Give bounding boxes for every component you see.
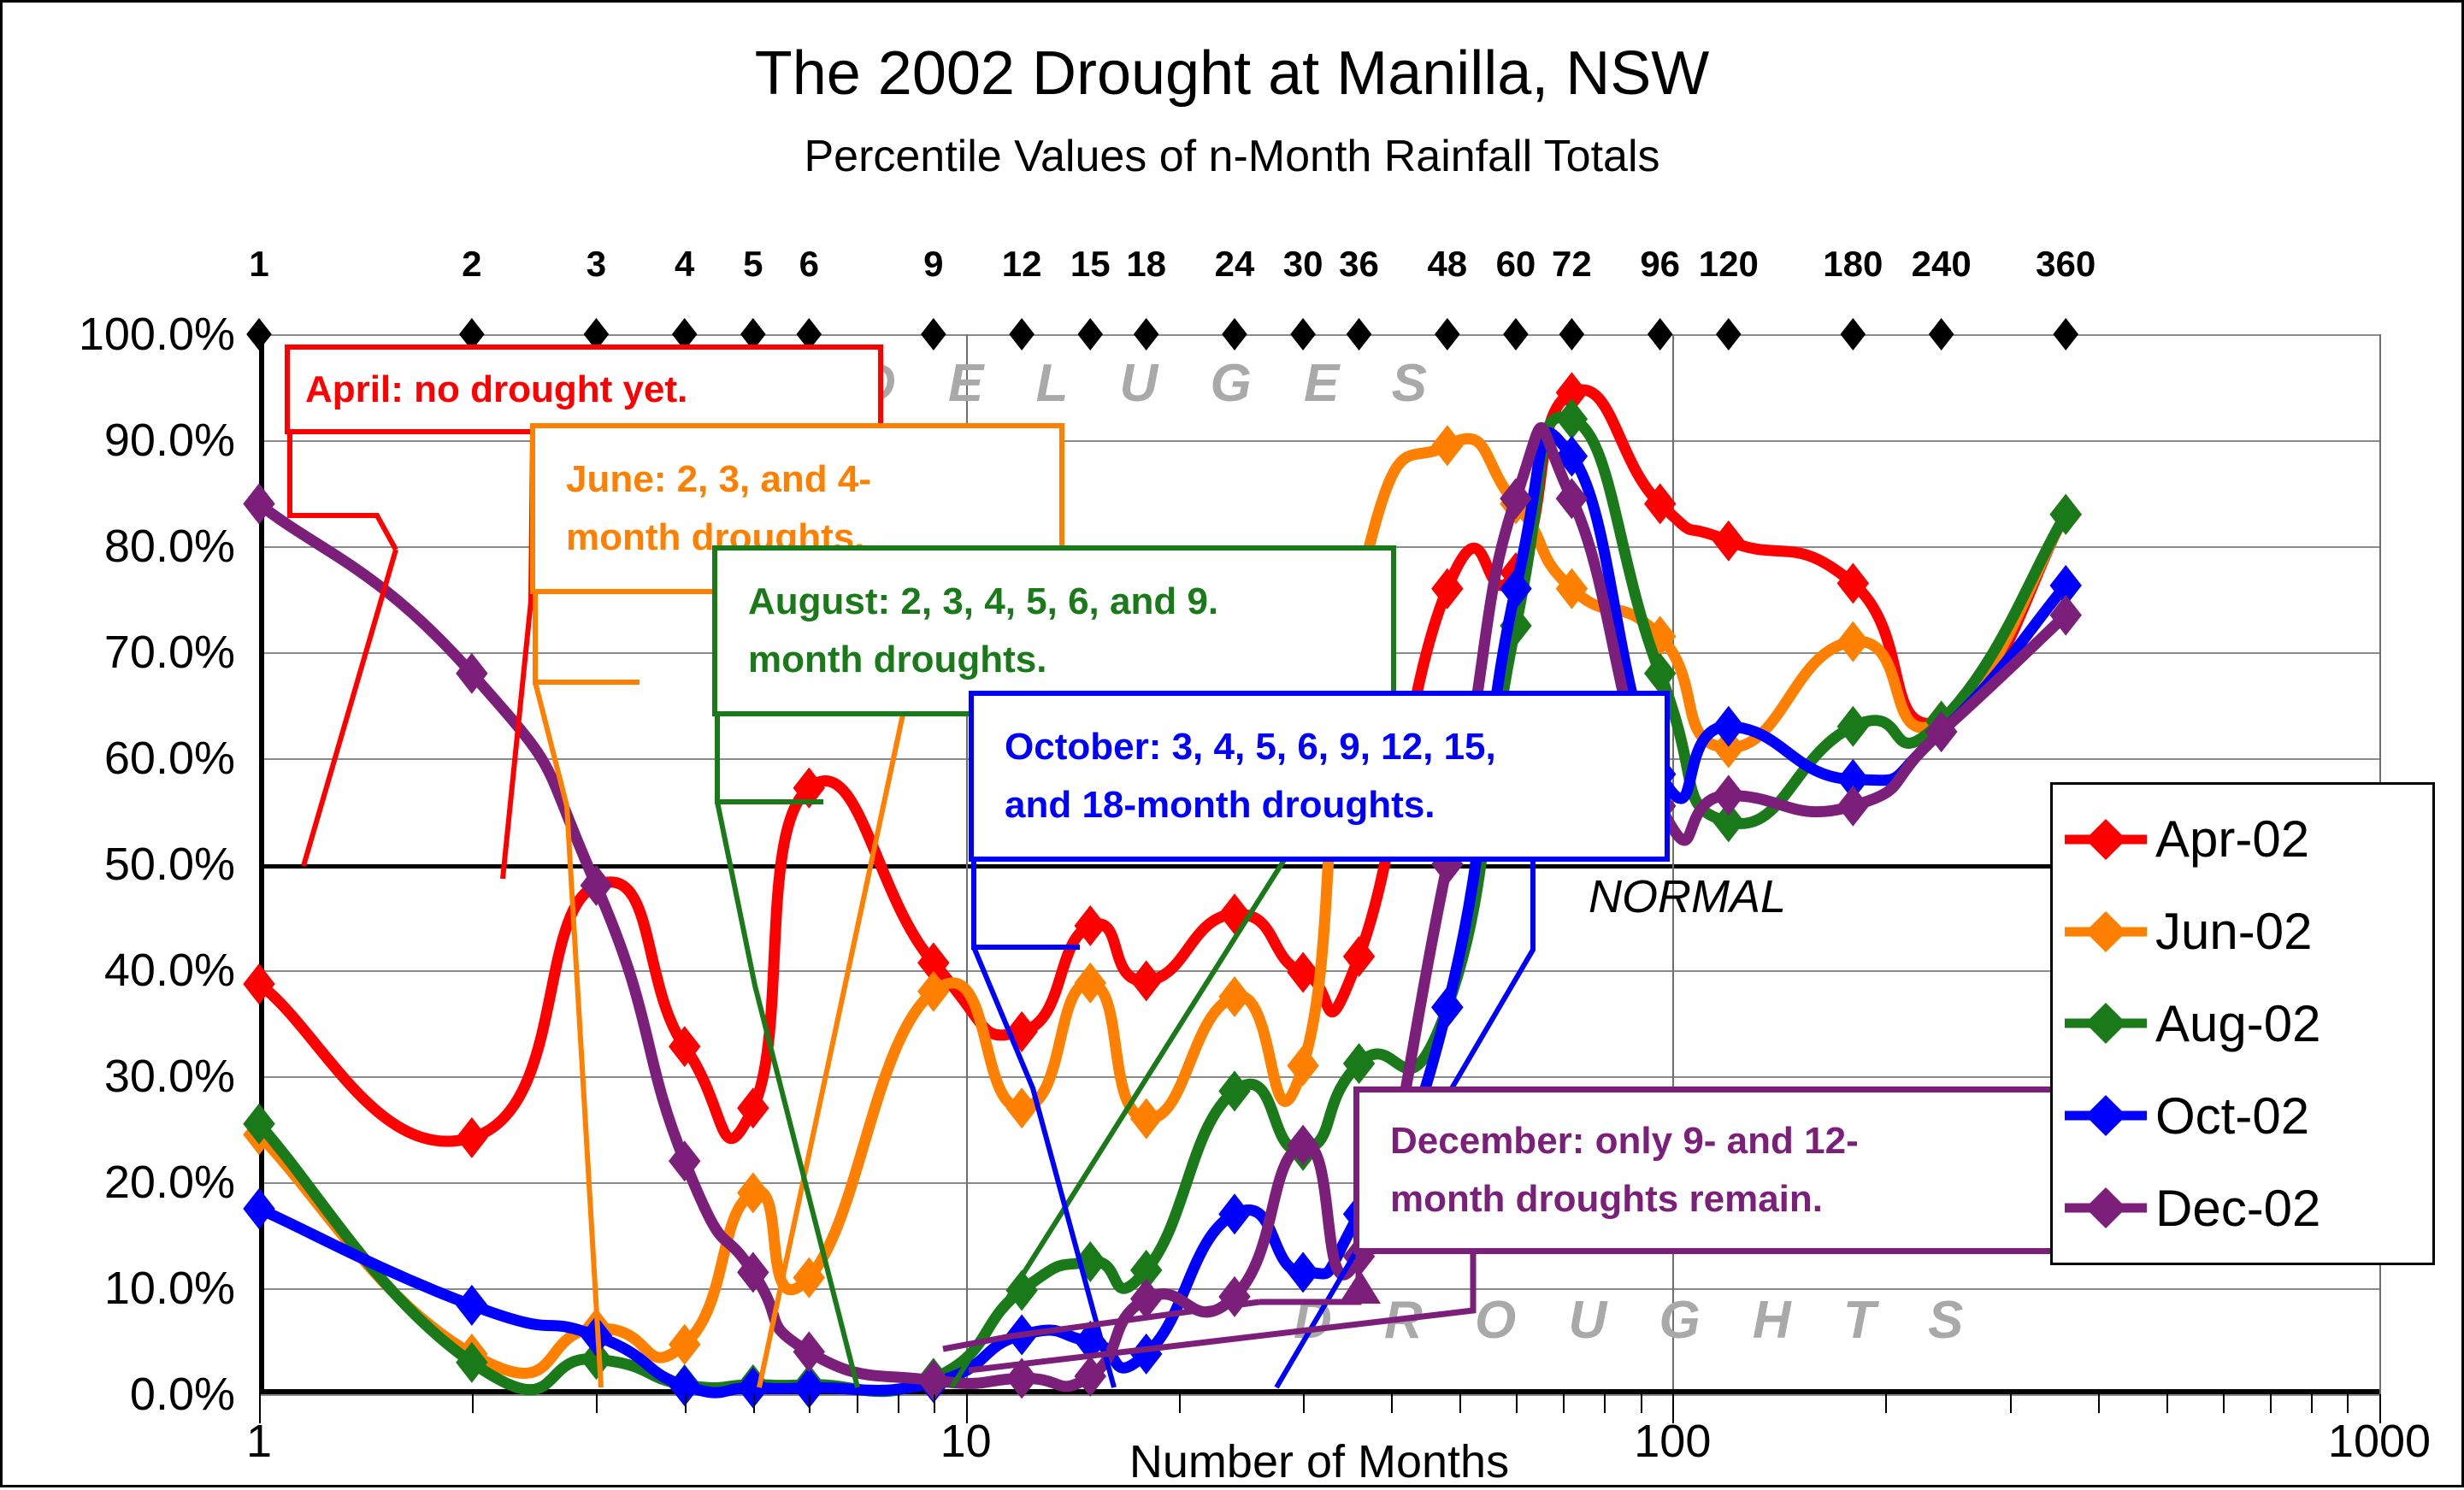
marker-top-100-48 — [1435, 318, 1460, 350]
legend-diamond-icon — [2085, 1187, 2126, 1228]
x-top-tick-360: 360 — [2036, 244, 2096, 285]
legend-item-apr-02[interactable]: Apr-02 — [2065, 798, 2432, 880]
x-minor-tick-50 — [1459, 1394, 1461, 1413]
x-minor-tick-600 — [2223, 1394, 2225, 1413]
y-tick-10: 10.0% — [0, 1262, 235, 1315]
marker-top-100-18 — [1134, 318, 1159, 350]
callout-december-line1: December: only 9- and 12- — [1375, 1112, 1874, 1170]
legend-swatch-oct-02 — [2065, 1098, 2147, 1133]
marker-oct-02-1 — [243, 1188, 274, 1229]
legend-item-dec-02[interactable]: Dec-02 — [2065, 1167, 2432, 1249]
marker-top-100-240 — [1929, 318, 1954, 350]
marker-apr-02-24 — [1218, 893, 1250, 934]
y-tick-70: 70.0% — [0, 626, 235, 679]
y-tick-60: 60.0% — [0, 732, 235, 785]
legend-swatch-apr-02 — [2065, 822, 2147, 857]
x-minor-tick-5 — [753, 1394, 755, 1413]
x-minor-tick-800 — [2311, 1394, 2313, 1413]
marker-dec-02-6 — [793, 1331, 825, 1372]
legend-diamond-icon — [2085, 1095, 2126, 1136]
x-top-tick-2: 2 — [462, 244, 481, 285]
x-top-tick-9: 9 — [923, 244, 943, 285]
callout-december: December: only 9- and 12- month droughts… — [1353, 1087, 2067, 1254]
x-top-tick-180: 180 — [1823, 244, 1883, 285]
normal-line-label: NORMAL — [1589, 870, 1786, 923]
marker-dec-02-180 — [1837, 786, 1869, 827]
y-tick-90: 90.0% — [0, 414, 235, 467]
marker-oct-02-15 — [1075, 1321, 1106, 1362]
legend-item-oct-02[interactable]: Oct-02 — [2065, 1075, 2432, 1157]
x-minor-tick-300 — [2010, 1394, 2012, 1413]
x-minor-tick-30 — [1303, 1394, 1305, 1413]
page-title: The 2002 Drought at Manilla, NSW — [3, 38, 2461, 109]
x-minor-tick-1000 — [2379, 1394, 2381, 1423]
callout-august-line2: month droughts. — [733, 631, 1234, 689]
marker-jun-02-30 — [1287, 1045, 1318, 1087]
x-minor-tick-70 — [1563, 1394, 1565, 1413]
legend-label: Dec-02 — [2155, 1179, 2320, 1238]
x-minor-tick-900 — [2347, 1394, 2349, 1413]
marker-aug-02-180 — [1837, 706, 1869, 747]
marker-aug-02-15 — [1075, 1241, 1106, 1282]
x-minor-tick-80 — [1604, 1394, 1606, 1413]
y-tick-80: 80.0% — [0, 520, 235, 573]
y-tick-100: 100.0% — [0, 308, 235, 361]
x-minor-tick-8 — [898, 1394, 899, 1413]
x-minor-tick-3 — [596, 1394, 598, 1413]
x-minor-tick-90 — [1641, 1394, 1642, 1413]
x-minor-tick-100 — [1672, 1394, 1674, 1423]
y-tick-50: 50.0% — [0, 838, 235, 891]
marker-top-100-360 — [2053, 318, 2078, 350]
x-top-tick-120: 120 — [1699, 244, 1759, 285]
marker-jun-02-48 — [1431, 425, 1463, 466]
marker-top-100-96 — [1648, 318, 1673, 350]
legend-diamond-icon — [2085, 819, 2126, 860]
y-tick-40: 40.0% — [0, 944, 235, 997]
x-minor-tick-4 — [685, 1394, 687, 1413]
x-top-tick-30: 30 — [1283, 244, 1323, 285]
callout-october-line2: and 18-month droughts. — [989, 776, 1512, 834]
legend-item-aug-02[interactable]: Aug-02 — [2065, 982, 2432, 1064]
marker-top-100-180 — [1841, 318, 1866, 350]
callout-august-line1: August: 2, 3, 4, 5, 6, and 9. — [733, 573, 1234, 631]
x-minor-tick-20 — [1179, 1394, 1181, 1413]
legend: Apr-02Jun-02Aug-02Oct-02Dec-02 — [2050, 782, 2435, 1265]
callout-october: October: 3, 4, 5, 6, 9, 12, 15, and 18-m… — [969, 691, 1670, 862]
marker-dec-02-12 — [1005, 1357, 1037, 1399]
legend-swatch-dec-02 — [2065, 1191, 2147, 1225]
x-top-tick-24: 24 — [1215, 244, 1255, 285]
x-top-tick-3: 3 — [587, 244, 606, 285]
x-top-tick-12: 12 — [1002, 244, 1042, 285]
x-top-tick-240: 240 — [1912, 244, 1972, 285]
x-minor-tick-400 — [2098, 1394, 2100, 1413]
callout-october-line1: October: 3, 4, 5, 6, 9, 12, 15, — [989, 718, 1512, 776]
legend-diamond-icon — [2085, 1003, 2126, 1044]
x-top-tick-48: 48 — [1427, 244, 1467, 285]
legend-label: Jun-02 — [2155, 902, 2312, 961]
legend-label: Oct-02 — [2155, 1087, 2309, 1145]
callout-april-text: April: no drought yet. — [290, 361, 703, 419]
chart-subtitle: Percentile Values of n-Month Rainfall To… — [3, 131, 2461, 182]
marker-dec-02-120 — [1712, 774, 1744, 816]
legend-diamond-icon — [2085, 911, 2126, 952]
marker-oct-02-3 — [581, 1316, 612, 1357]
x-minor-tick-2 — [472, 1394, 474, 1413]
marker-apr-02-18 — [1130, 960, 1162, 1001]
x-top-tick-15: 15 — [1070, 244, 1111, 285]
legend-item-jun-02[interactable]: Jun-02 — [2065, 891, 2432, 973]
x-top-tick-60: 60 — [1496, 244, 1536, 285]
x-minor-tick-60 — [1516, 1394, 1518, 1413]
marker-oct-02-30 — [1287, 1251, 1318, 1293]
x-minor-tick-9 — [934, 1394, 935, 1413]
legend-label: Apr-02 — [2155, 810, 2309, 869]
x-minor-tick-1 — [259, 1394, 261, 1423]
marker-jun-02-24 — [1218, 976, 1250, 1017]
legend-swatch-aug-02 — [2065, 1006, 2147, 1040]
marker-oct-02-2 — [456, 1285, 487, 1326]
x-top-tick-6: 6 — [799, 244, 819, 285]
y-tick-30: 30.0% — [0, 1050, 235, 1103]
x-minor-tick-200 — [1885, 1394, 1887, 1413]
chart-frame: The 2002 Drought at Manilla, NSW Percent… — [0, 0, 2464, 1487]
x-top-tick-18: 18 — [1126, 244, 1166, 285]
x-top-tick-36: 36 — [1339, 244, 1379, 285]
x-top-tick-96: 96 — [1640, 244, 1680, 285]
y-tick-0: 0.0% — [0, 1368, 235, 1421]
marker-top-100-9 — [921, 318, 946, 350]
droughts-watermark: D R O U G H T S — [1294, 1290, 1982, 1351]
legend-label: Aug-02 — [2155, 994, 2320, 1053]
marker-apr-02-12 — [1005, 1011, 1037, 1052]
marker-oct-02-12 — [1005, 1315, 1037, 1356]
marker-top-100-1 — [246, 318, 272, 350]
marker-top-100-24 — [1222, 318, 1247, 350]
x-minor-tick-6 — [809, 1394, 811, 1413]
marker-jun-02-180 — [1837, 621, 1869, 663]
marker-top-100-30 — [1290, 318, 1316, 350]
x-top-tick-72: 72 — [1552, 244, 1592, 285]
x-top-tick-1: 1 — [249, 244, 268, 285]
x-minor-tick-500 — [2166, 1394, 2168, 1413]
y-tick-20: 20.0% — [0, 1156, 235, 1209]
callout-december-line2: month droughts remain. — [1375, 1170, 1874, 1228]
deluges-watermark: D E L U G E S — [858, 353, 1446, 414]
marker-apr-02-120 — [1712, 521, 1744, 562]
marker-top-100-12 — [1009, 318, 1035, 350]
callout-april: April: no drought yet. — [285, 345, 883, 434]
x-top-tick-4: 4 — [675, 244, 694, 285]
x-minor-tick-10 — [966, 1394, 968, 1423]
x-minor-tick-40 — [1391, 1394, 1393, 1413]
marker-top-100-72 — [1559, 318, 1585, 350]
marker-jun-02-12 — [1005, 1087, 1037, 1128]
x-top-tick-5: 5 — [743, 244, 763, 285]
marker-top-100-15 — [1077, 318, 1103, 350]
x-minor-tick-7 — [857, 1394, 858, 1413]
marker-top-100-36 — [1347, 318, 1372, 350]
legend-swatch-jun-02 — [2065, 915, 2147, 949]
callout-june-line1: June: 2, 3, and 4- — [551, 451, 887, 509]
gridline-0 — [259, 1394, 2379, 1396]
marker-top-100-120 — [1716, 318, 1742, 350]
x-minor-tick-700 — [2270, 1394, 2272, 1413]
marker-apr-02-2 — [456, 1117, 487, 1158]
marker-top-100-60 — [1503, 318, 1529, 350]
